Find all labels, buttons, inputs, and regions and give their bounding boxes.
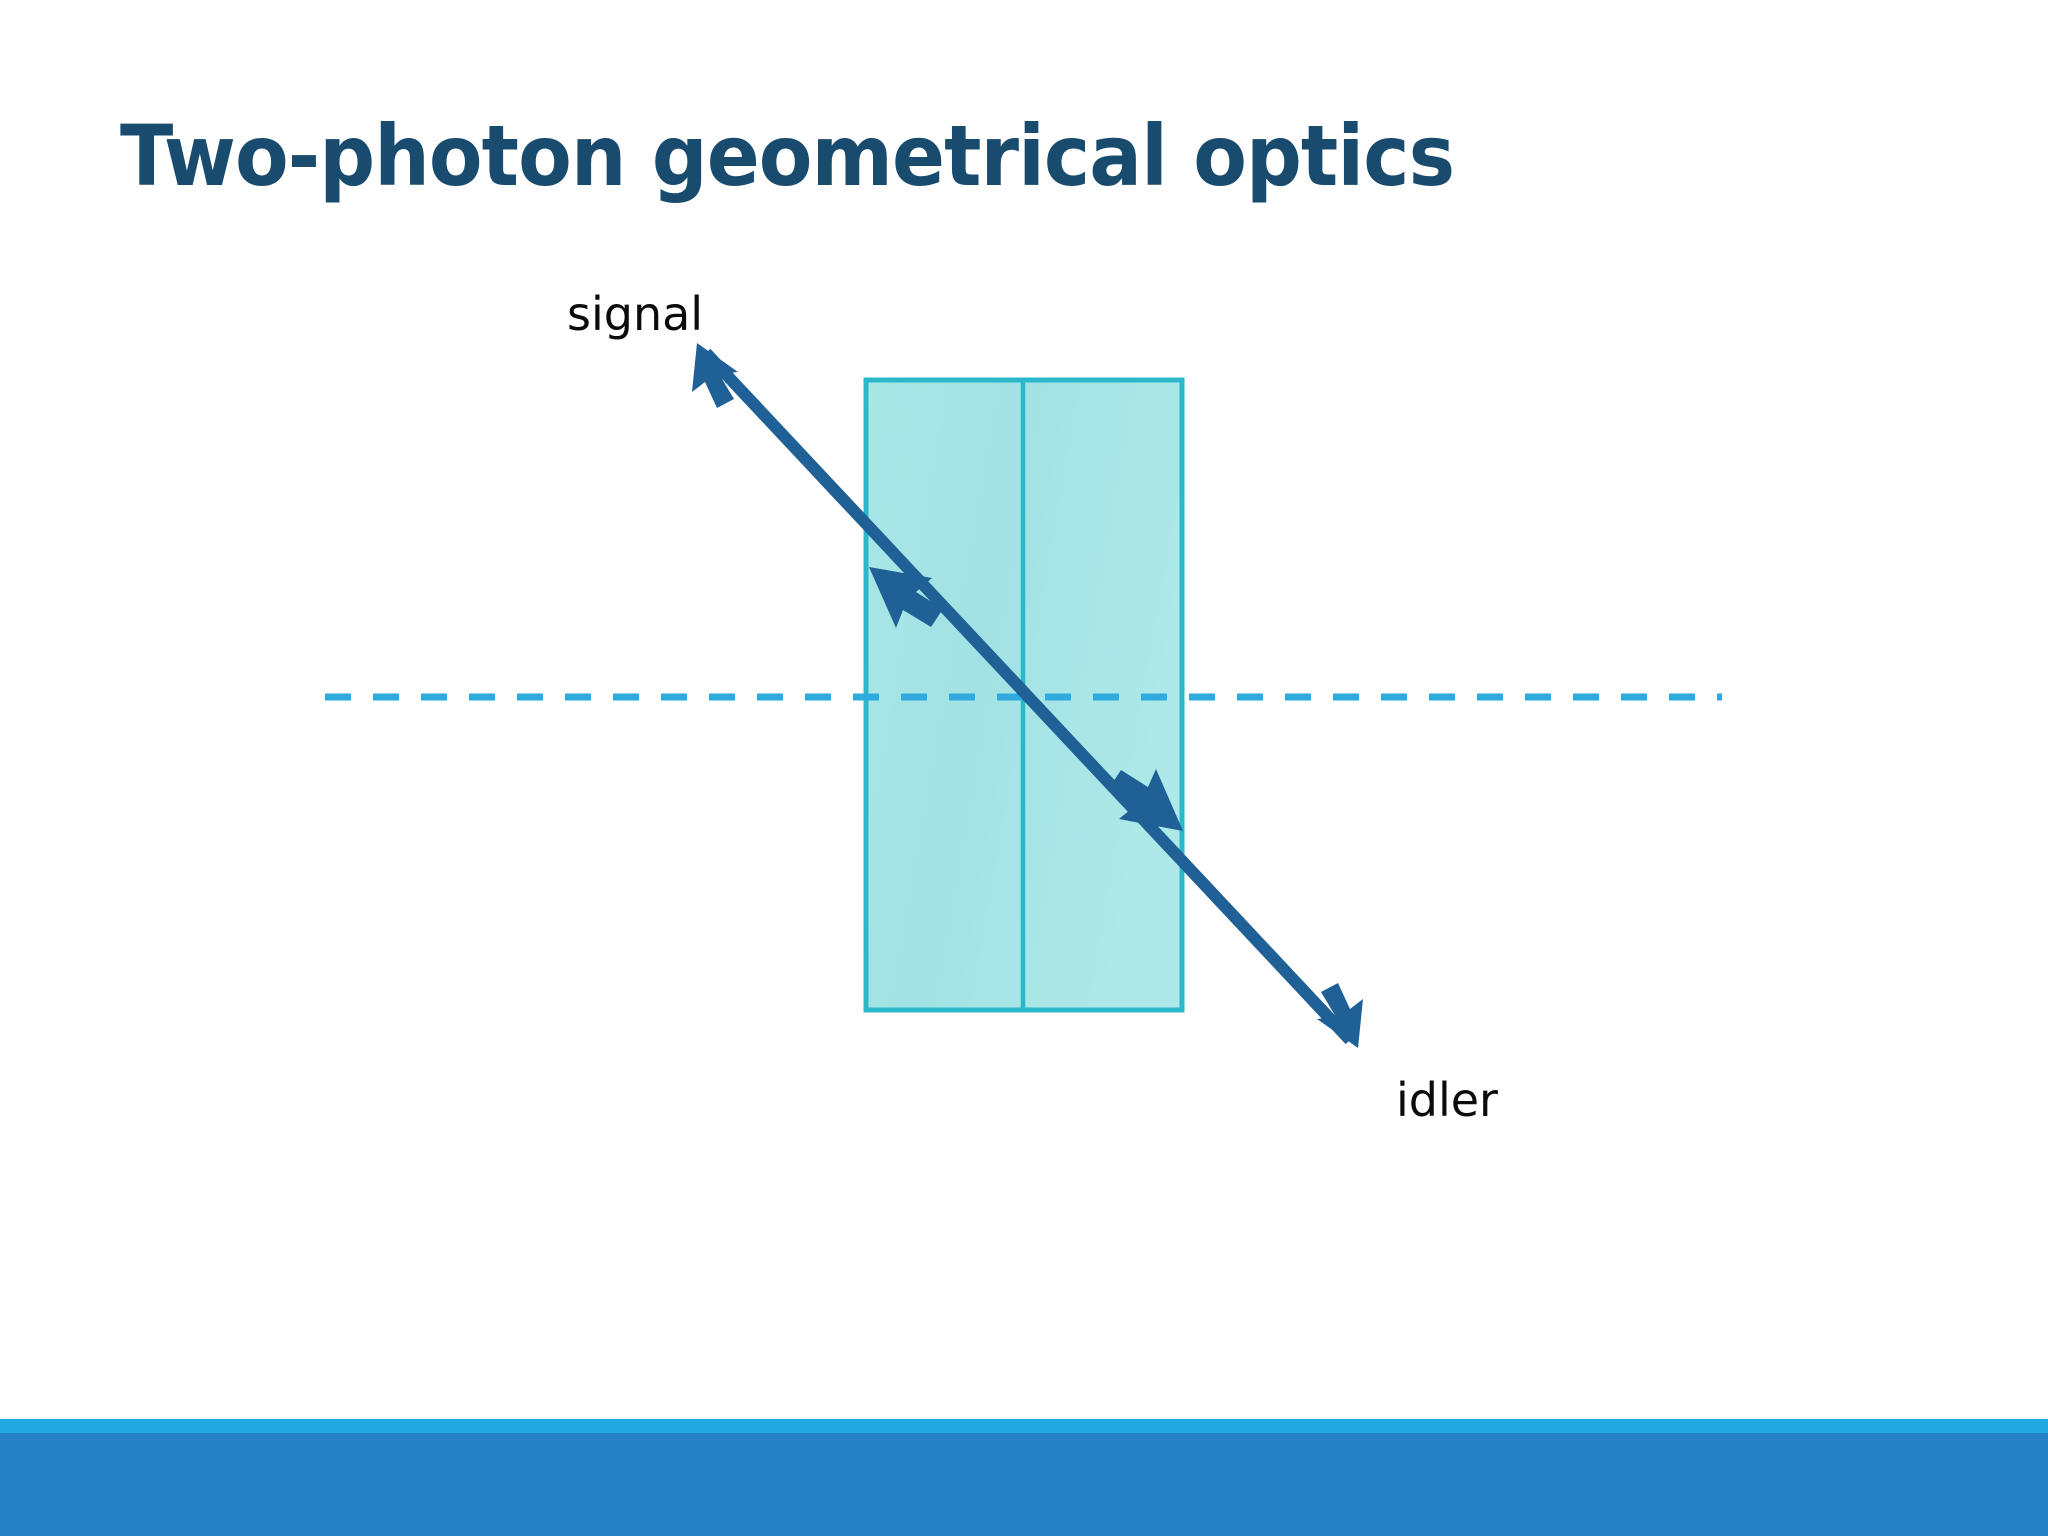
signal-label: signal — [567, 288, 703, 340]
optics-ray-diagram: signal idler — [0, 0, 2048, 1536]
idler-label: idler — [1396, 1074, 1498, 1126]
footer-accent-strip — [0, 1419, 2048, 1433]
diagram-svg — [0, 0, 2048, 1536]
footer-band — [0, 1433, 2048, 1536]
slide-canvas: Two-photon geometrical optics — [0, 0, 2048, 1536]
